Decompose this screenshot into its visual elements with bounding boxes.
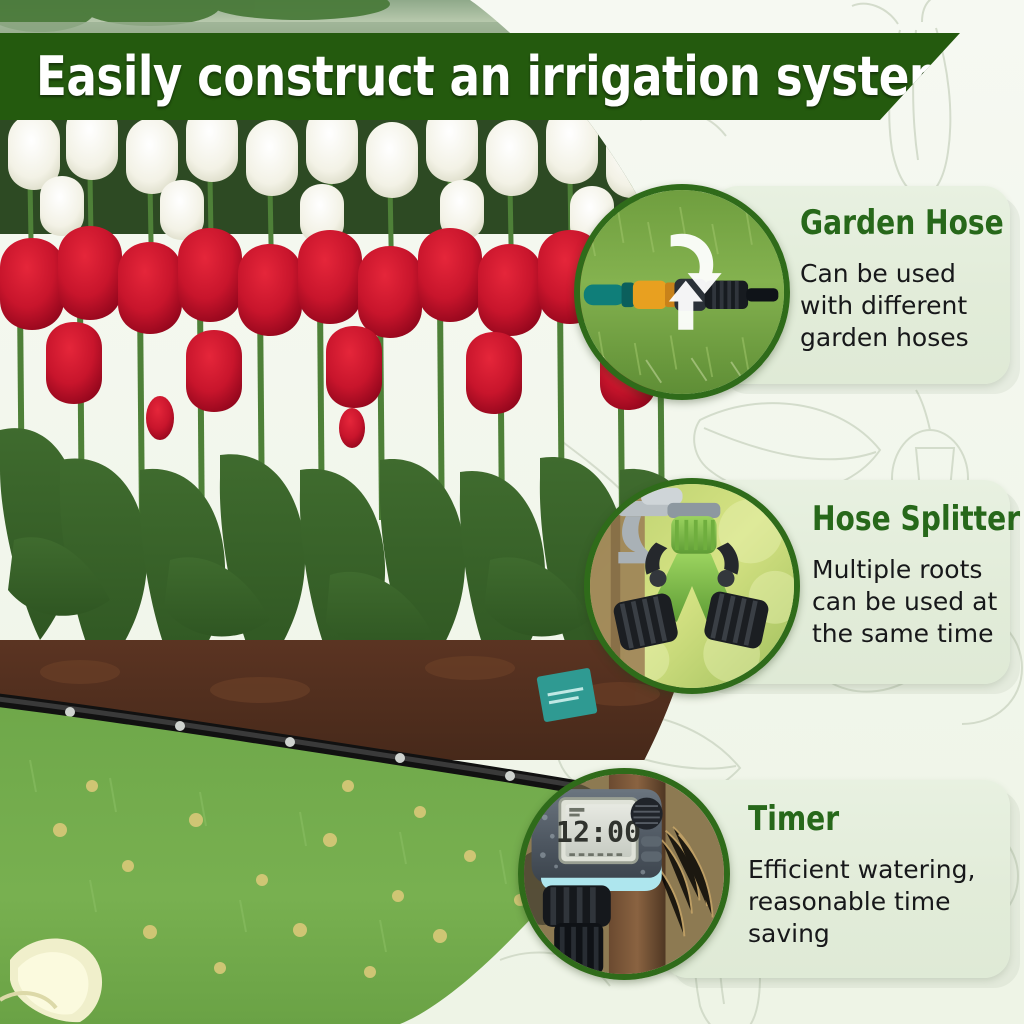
feature-photo-hose-splitter[interactable]	[584, 478, 800, 694]
feature-title-hose-splitter: Hose Splitter	[812, 502, 996, 536]
feature-photo-timer[interactable]: 12:00	[518, 768, 730, 980]
feature-desc-timer: Efficient watering, reasonable time savi…	[748, 854, 992, 950]
infographic-canvas: Easily construct an irrigation system Ga…	[0, 0, 1024, 1024]
feature-text-timer: Timer Efficient watering, reasonable tim…	[748, 802, 992, 950]
feature-photo-garden-hose[interactable]	[574, 184, 790, 400]
header-banner: Easily construct an irrigation system	[0, 33, 960, 120]
feature-desc-garden-hose: Can be used with different garden hoses	[800, 258, 1010, 354]
timer-display-value: 12:00	[556, 816, 641, 849]
feature-desc-hose-splitter: Multiple roots can be used at the same t…	[812, 554, 1012, 650]
feature-text-garden-hose: Garden Hose Can be used with different g…	[800, 206, 1010, 354]
page-title: Easily construct an irrigation system	[36, 50, 956, 104]
feature-text-hose-splitter: Hose Splitter Multiple roots can be used…	[812, 502, 1012, 650]
feature-title-garden-hose: Garden Hose	[800, 206, 993, 240]
feature-title-timer: Timer	[748, 802, 972, 836]
